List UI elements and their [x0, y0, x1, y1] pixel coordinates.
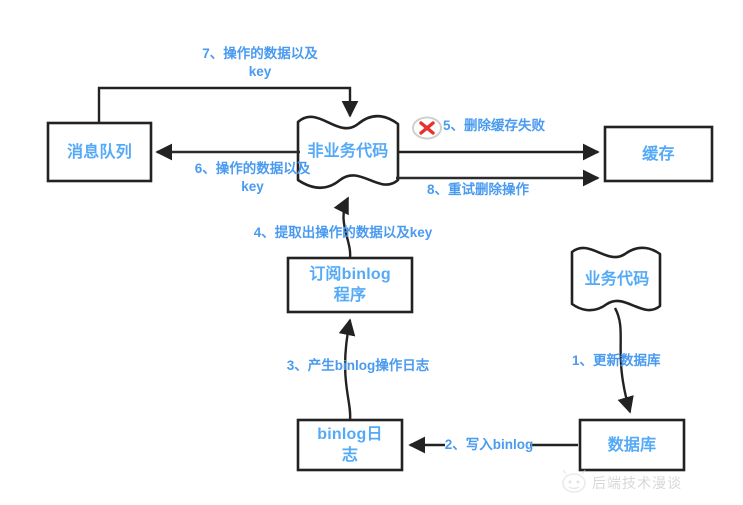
node-label-db[interactable]: 数据库	[580, 420, 684, 470]
node-label-mq[interactable]: 消息队列	[48, 123, 151, 181]
edge-label-4: 4、提取出操作的数据以及key	[193, 224, 493, 242]
node-label-binlogsub[interactable]: 订阅binlog 程序	[288, 258, 412, 312]
edge-label-6: 6、操作的数据以及 key	[145, 160, 360, 196]
edge-label-3: 3、产生binlog操作日志	[233, 357, 483, 375]
edge-label-8: 8、重试删除操作	[427, 181, 587, 199]
edge-label-1: 1、更新数据库	[572, 352, 722, 370]
watermark-text: 后端技术漫谈	[592, 473, 682, 493]
node-label-binloglog[interactable]: binlog日 志	[298, 420, 402, 470]
edge-label-2: 2、写入binlog	[443, 436, 535, 454]
delete-cache-failed-icon	[413, 118, 441, 139]
node-label-bizcode[interactable]: 业务代码	[574, 254, 660, 304]
diagram-canvas: 消息队列 非业务代码 缓存 订阅binlog 程序 业务代码 binlog日 志…	[0, 0, 743, 505]
edge-label-7: 7、操作的数据以及 key	[140, 45, 380, 81]
node-label-cache[interactable]: 缓存	[605, 127, 712, 181]
watermark-avatar-icon	[563, 470, 585, 492]
edge-label-5: 5、删除缓存失败	[443, 117, 603, 135]
